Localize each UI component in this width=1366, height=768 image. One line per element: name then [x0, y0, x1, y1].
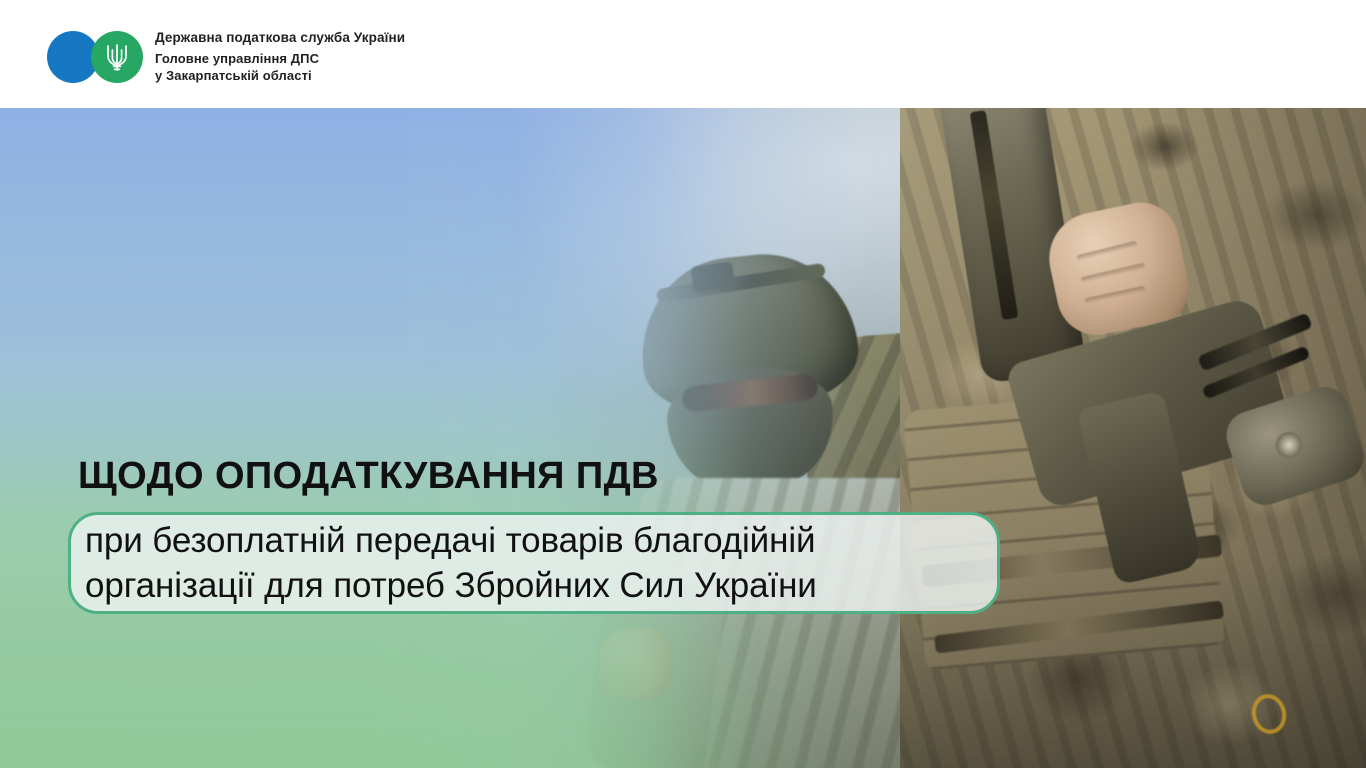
hero-banner: ЩОДО ОПОДАТКУВАННЯ ПДВ при безоплатній п…	[0, 108, 1366, 768]
subtitle-line-2: організації для потреб Збройних Сил Укра…	[85, 563, 981, 609]
organization-logo-block: Державна податкова служба України Головн…	[47, 29, 405, 85]
org-line-2: Головне управління ДПС	[155, 50, 405, 67]
ukraine-trident-icon	[104, 41, 130, 73]
subtitle-line-1: при безоплатній передачі товарів благоді…	[85, 518, 981, 564]
page-title: ЩОДО ОПОДАТКУВАННЯ ПДВ	[78, 456, 659, 497]
logo-marks	[47, 31, 147, 83]
slide-page: Державна податкова служба України Головн…	[0, 0, 1366, 768]
green-circle-icon	[91, 31, 143, 83]
org-line-1: Державна податкова служба України	[155, 29, 405, 47]
org-line-3: у Закарпатській області	[155, 67, 405, 84]
organization-name: Державна податкова служба України Головн…	[155, 29, 405, 85]
subtitle-callout-box: при безоплатній передачі товарів благоді…	[68, 512, 1000, 614]
header-band: Державна податкова служба України Головн…	[0, 0, 1366, 108]
